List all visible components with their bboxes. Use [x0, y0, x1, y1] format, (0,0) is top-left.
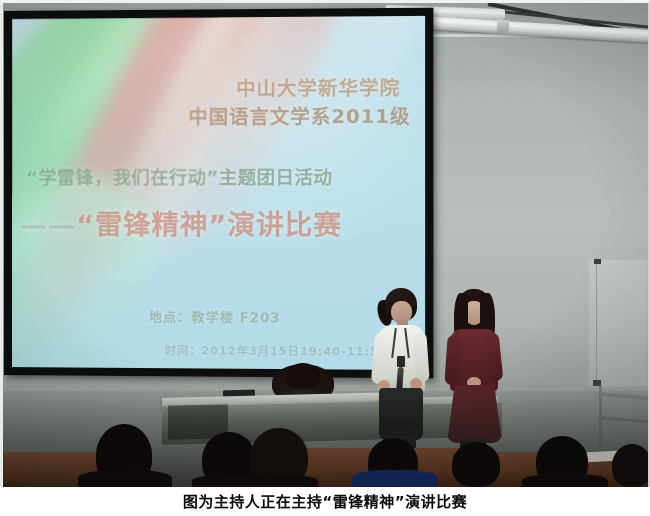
- caption-area: 图为主持人正在主持“雷锋精神”演讲比赛: [0, 487, 650, 516]
- screenshot-page: 中山大学新华学院 中国语言文学系2011级 “学雷锋，我们在行动”主题团日活动 …: [0, 0, 650, 516]
- photo-vignette: [0, 0, 650, 487]
- photo-caption: 图为主持人正在主持“雷锋精神”演讲比赛: [183, 491, 467, 512]
- photo-image: 中山大学新华学院 中国语言文学系2011级 “学雷锋，我们在行动”主题团日活动 …: [0, 0, 650, 487]
